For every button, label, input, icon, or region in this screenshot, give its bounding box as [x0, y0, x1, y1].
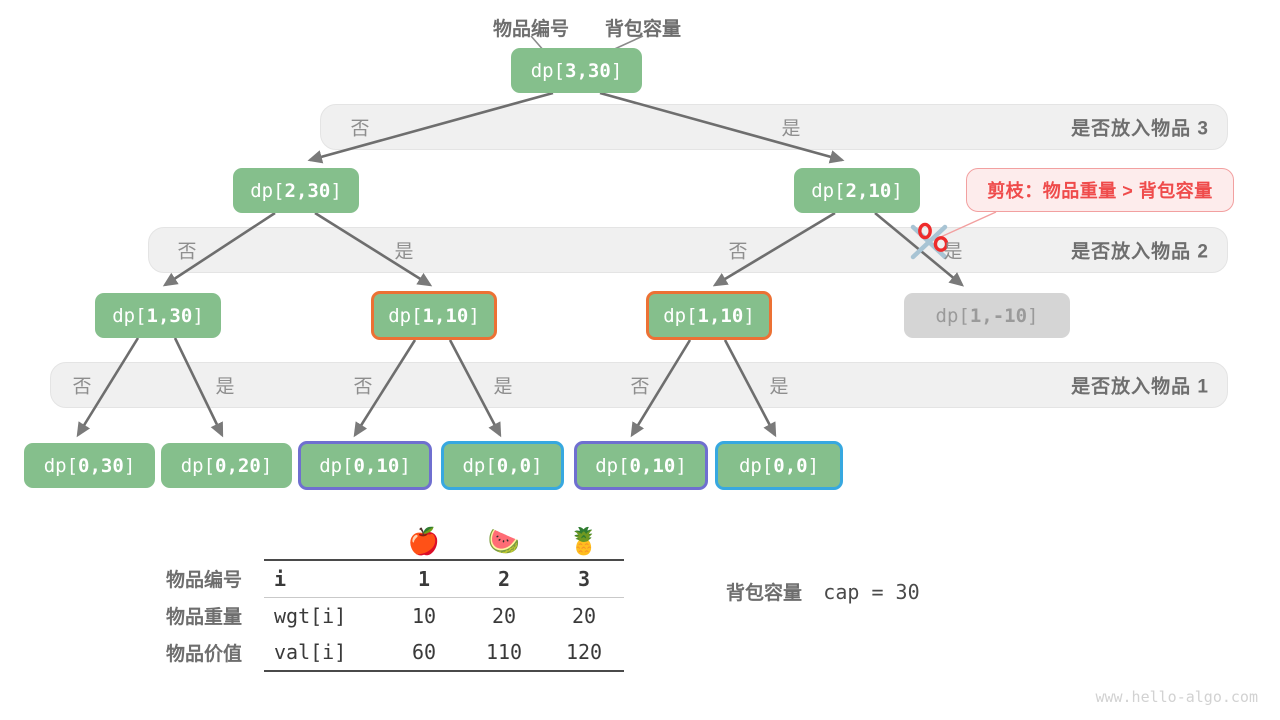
table-cell: 3 [544, 560, 624, 597]
table-row-label: wgt[i] [264, 597, 384, 634]
table-cell: 60 [384, 634, 464, 671]
node-index: 2,30 [285, 180, 331, 202]
node-index: 0,0 [773, 455, 807, 477]
node-prefix: dp[ [739, 455, 773, 477]
item-emoji: 🍍 [544, 522, 624, 560]
node-prefix: dp[ [811, 180, 845, 202]
node-index: 0,10 [354, 455, 400, 477]
table-row: 物品编号i123 [166, 560, 624, 597]
tree-node: dp[2,30] [233, 168, 359, 213]
tree-node: dp[0,30] [24, 443, 155, 488]
scissors-icon [913, 224, 947, 257]
branch-label: 是 [943, 237, 962, 264]
table-row-header: 物品价值 [166, 634, 264, 671]
tree-node: dp[1,30] [95, 293, 221, 338]
node-suffix: ] [675, 455, 686, 477]
table-cell: 1 [384, 560, 464, 597]
tree-node: dp[1,10] [646, 291, 772, 340]
node-prefix: dp[ [936, 305, 970, 327]
node-suffix: ] [611, 60, 622, 82]
tree-node: dp[0,0] [715, 441, 843, 490]
branch-label: 否 [353, 372, 372, 399]
tree-edge [725, 340, 775, 435]
capacity-value: cap = 30 [823, 580, 919, 604]
branch-label: 是 [215, 372, 234, 399]
tree-node: dp[1,-10] [904, 293, 1070, 338]
items-table-wrapper: 🍎🍉🍍物品编号i123物品重量wgt[i]102020物品价值val[i]601… [166, 522, 624, 672]
node-suffix: ] [468, 305, 479, 327]
node-prefix: dp[ [663, 305, 697, 327]
branch-label: 否 [630, 372, 649, 399]
tree-node: dp[3,30] [511, 48, 642, 93]
node-index: 0,20 [215, 455, 261, 477]
node-index: 1,-10 [970, 305, 1027, 327]
node-prefix: dp[ [595, 455, 629, 477]
table-row-label: i [264, 560, 384, 597]
tree-node: dp[0,20] [161, 443, 292, 488]
tree-node: dp[0,0] [441, 441, 564, 490]
branch-label: 是 [769, 372, 788, 399]
node-prefix: dp[ [250, 180, 284, 202]
table-cell: 10 [384, 597, 464, 634]
items-table: 🍎🍉🍍物品编号i123物品重量wgt[i]102020物品价值val[i]601… [166, 522, 624, 672]
branch-label: 是 [394, 237, 413, 264]
node-index: 1,30 [147, 305, 193, 327]
node-prefix: dp[ [388, 305, 422, 327]
node-suffix: ] [330, 180, 341, 202]
node-prefix: dp[ [531, 60, 565, 82]
node-index: 2,10 [846, 180, 892, 202]
tree-node: dp[2,10] [794, 168, 920, 213]
table-row: 物品价值val[i]60110120 [166, 634, 624, 671]
prune-annotation: 剪枝：物品重量 > 背包容量 [966, 168, 1234, 212]
table-cell: 20 [544, 597, 624, 634]
pointer-label: 背包容量 [605, 14, 681, 41]
node-suffix: ] [891, 180, 902, 202]
node-suffix: ] [124, 455, 135, 477]
node-prefix: dp[ [462, 455, 496, 477]
node-index: 1,10 [423, 305, 469, 327]
table-row-header: 物品编号 [166, 560, 264, 597]
table-cell: 20 [464, 597, 544, 634]
tree-edge [310, 93, 553, 160]
branch-label: 是 [781, 114, 800, 141]
node-suffix: ] [192, 305, 203, 327]
table-cell: 110 [464, 634, 544, 671]
node-prefix: dp[ [319, 455, 353, 477]
capacity-note: 背包容量 cap = 30 [726, 578, 920, 605]
node-prefix: dp[ [181, 455, 215, 477]
node-index: 3,30 [565, 60, 611, 82]
item-emoji: 🍎 [384, 522, 464, 560]
table-cell: 120 [544, 634, 624, 671]
branch-label: 是 [493, 372, 512, 399]
node-suffix: ] [743, 305, 754, 327]
item-emoji: 🍉 [464, 522, 544, 560]
node-suffix: ] [808, 455, 819, 477]
branch-label: 否 [728, 237, 747, 264]
node-suffix: ] [399, 455, 410, 477]
node-prefix: dp[ [44, 455, 78, 477]
node-index: 1,10 [698, 305, 744, 327]
capacity-label: 背包容量 [726, 583, 802, 604]
branch-label: 否 [72, 372, 91, 399]
table-emoji-row: 🍎🍉🍍 [166, 522, 624, 560]
table-row-header: 物品重量 [166, 597, 264, 634]
table-row-label: val[i] [264, 634, 384, 671]
branch-label: 否 [177, 237, 196, 264]
tree-edges [78, 93, 962, 435]
table-emoji-spacer [264, 522, 384, 560]
node-prefix: dp[ [112, 305, 146, 327]
tree-edge [600, 93, 842, 160]
diagram-canvas: 是否放入物品 3是否放入物品 2是否放入物品 1 否是否是否是否是否是否是 dp… [0, 0, 1280, 720]
tree-node: dp[0,10] [298, 441, 432, 490]
node-suffix: ] [261, 455, 272, 477]
table-emoji-spacer [166, 522, 264, 560]
tree-node: dp[0,10] [574, 441, 708, 490]
table-row: 物品重量wgt[i]102020 [166, 597, 624, 634]
watermark: www.hello-algo.com [1095, 688, 1258, 706]
node-index: 0,0 [497, 455, 531, 477]
pointer-label: 物品编号 [493, 14, 569, 41]
branch-label: 否 [350, 114, 369, 141]
node-suffix: ] [531, 455, 542, 477]
node-index: 0,30 [78, 455, 124, 477]
table-cell: 2 [464, 560, 544, 597]
node-suffix: ] [1027, 305, 1038, 327]
tree-node: dp[1,10] [371, 291, 497, 340]
node-index: 0,10 [630, 455, 676, 477]
